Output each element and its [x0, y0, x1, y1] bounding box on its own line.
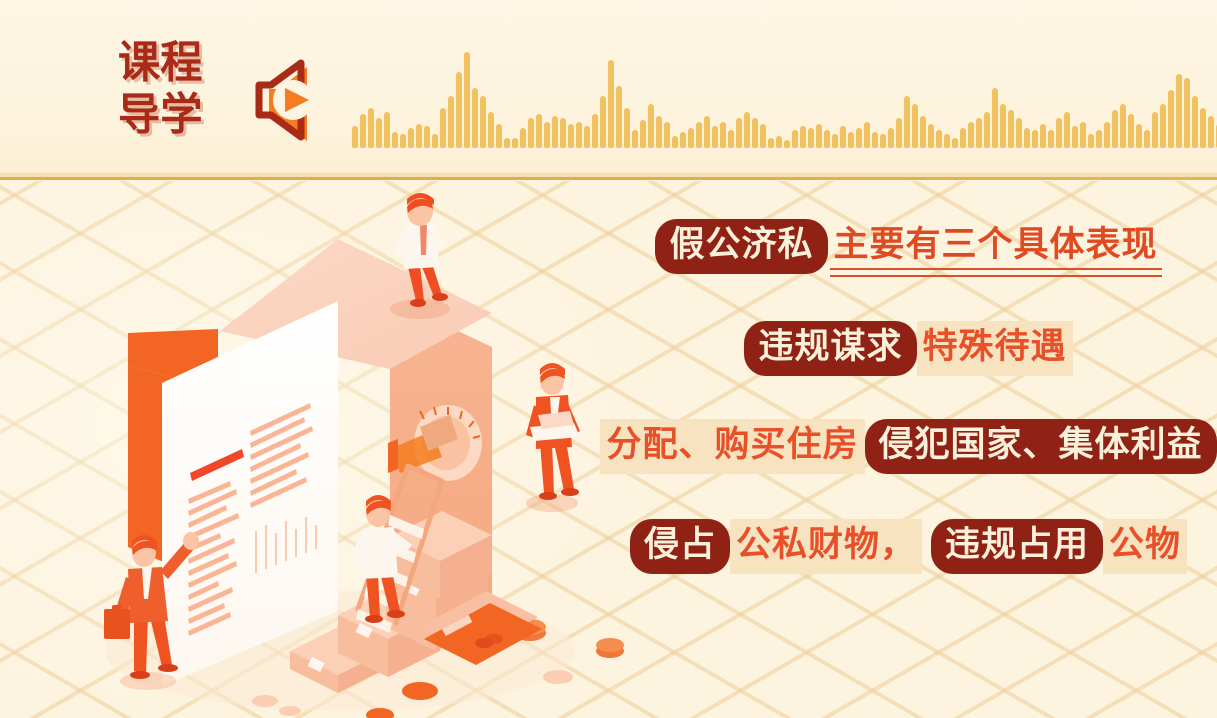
waveform-bar — [1192, 96, 1198, 148]
waveform-bar — [1080, 122, 1086, 148]
speaker-play-icon[interactable] — [245, 55, 335, 147]
content-line-2: 违规谋求 特殊待遇 — [600, 321, 1217, 376]
waveform-bar — [1088, 134, 1094, 148]
waveform-bar — [1168, 90, 1174, 148]
waveform-bar — [1152, 112, 1158, 148]
line-4-pill-2: 违规占用 — [931, 519, 1103, 574]
slide-canvas: 课程 导学 — [0, 0, 1217, 718]
waveform-bar — [1032, 130, 1038, 148]
waveform-bar — [1000, 104, 1006, 148]
header-bar: 课程 导学 — [0, 0, 1217, 180]
waveform-bar — [1176, 74, 1182, 148]
waveform-bar — [752, 118, 758, 148]
waveform-bar — [400, 134, 406, 148]
waveform-bar — [760, 124, 766, 148]
waveform-bar — [536, 114, 542, 148]
waveform-bar — [624, 108, 630, 148]
waveform-bar — [592, 114, 598, 148]
line-4-highlight-2: 公物 — [1103, 519, 1187, 574]
waveform-bar — [832, 134, 838, 148]
waveform-bar — [552, 116, 558, 148]
waveform-bar — [968, 122, 974, 148]
line-4-highlight-1: 公私财物， — [730, 519, 922, 574]
waveform-bar — [928, 124, 934, 148]
waveform-bar — [744, 112, 750, 148]
waveform-bar — [568, 124, 574, 148]
waveform-bar — [416, 124, 422, 148]
waveform-bar — [704, 116, 710, 148]
content-line-1: 假公济私 主要有三个具体表现 — [600, 219, 1217, 274]
waveform-bar — [472, 88, 478, 148]
waveform-bar — [544, 122, 550, 148]
waveform-bar — [608, 60, 614, 148]
waveform-bar — [520, 128, 526, 148]
waveform-bar — [1144, 130, 1150, 148]
line-1-plain: 主要有三个具体表现 — [828, 219, 1162, 274]
man-with-laptop — [526, 363, 580, 512]
waveform-bar — [1024, 128, 1030, 148]
waveform-bar — [808, 128, 814, 148]
waveform-bar — [984, 112, 990, 148]
course-guide-logo: 课程 导学 — [118, 38, 228, 143]
waveform-bar — [952, 138, 958, 148]
waveform-bar — [776, 136, 782, 148]
waveform-bar — [720, 122, 726, 148]
waveform-bar — [392, 132, 398, 148]
waveform-bar — [432, 134, 438, 148]
line-3-highlight: 分配、购买住房 — [600, 419, 864, 474]
waveform-bar — [880, 134, 886, 148]
waveform-bar — [840, 126, 846, 148]
waveform-bar — [584, 126, 590, 148]
waveform-bar — [648, 104, 654, 148]
waveform-bar — [912, 104, 918, 148]
waveform-bar — [944, 134, 950, 148]
content-line-4: 侵占 公私财物， 违规占用 公物 — [600, 519, 1217, 574]
waveform-bar — [1120, 104, 1126, 148]
waveform-bar — [560, 118, 566, 148]
waveform-bar — [1208, 116, 1214, 148]
text-block: 假公济私 主要有三个具体表现 违规谋求 特殊待遇 分配、购买住房 侵犯国家、集体… — [600, 181, 1217, 718]
waveform-bar — [1040, 124, 1046, 148]
waveform-bar — [904, 96, 910, 148]
waveform-bar — [408, 128, 414, 148]
waveform-bar — [816, 124, 822, 148]
waveform-bar — [712, 126, 718, 148]
waveform-bar — [1128, 114, 1134, 148]
waveform-bar — [824, 130, 830, 148]
waveform-bar — [360, 114, 366, 148]
waveform-bar — [1072, 126, 1078, 148]
waveform-bar — [368, 108, 374, 148]
waveform-bar — [456, 72, 462, 148]
waveform-bar — [384, 112, 390, 148]
waveform-bar — [784, 140, 790, 148]
waveform-bar — [696, 122, 702, 148]
waveform-bar — [376, 118, 382, 148]
line-4-pill-1: 侵占 — [630, 519, 730, 574]
waveform-bar — [1160, 104, 1166, 148]
waveform-bar — [1112, 110, 1118, 148]
waveform-bar — [616, 86, 622, 148]
waveform-bar — [448, 96, 454, 148]
waveform-bar — [1096, 130, 1102, 148]
waveform-bar — [352, 126, 358, 148]
waveform-bar — [800, 126, 806, 148]
waveform-bar — [976, 118, 982, 148]
waveform-bar — [792, 130, 798, 148]
waveform-bar — [528, 118, 534, 148]
waveform-bar — [1200, 108, 1206, 148]
waveform-bar — [680, 132, 686, 148]
waveform-bar — [768, 138, 774, 148]
waveform-bar — [664, 122, 670, 148]
content-line-3: 分配、购买住房 侵犯国家、集体利益 — [600, 419, 1217, 474]
divider-gold — [0, 177, 1217, 180]
line-1-pill: 假公济私 — [655, 219, 827, 274]
waveform-bar — [936, 130, 942, 148]
waveform-bar — [1136, 124, 1142, 148]
waveform-bar — [1184, 78, 1190, 148]
waveform-bar — [576, 122, 582, 148]
line-2-pill: 违规谋求 — [744, 321, 916, 376]
waveform-bar — [1104, 122, 1110, 148]
waveform-bar — [440, 108, 446, 148]
waveform-bar — [496, 124, 502, 148]
waveform-bar — [672, 136, 678, 148]
waveform-bar — [848, 132, 854, 148]
waveform-bar — [688, 128, 694, 148]
waveform-bar — [1064, 112, 1070, 148]
waveform-bar — [640, 120, 646, 148]
waveform-bar — [872, 132, 878, 148]
logo-line-1: 课程 — [118, 38, 224, 88]
waveform-bar — [504, 138, 510, 148]
waveform-bar — [1016, 118, 1022, 148]
waveform-bar — [512, 138, 518, 148]
waveform-bar — [920, 116, 926, 148]
audio-waveform — [352, 30, 1142, 148]
waveform-bar — [736, 118, 742, 148]
logo-line-2: 导学 — [118, 90, 224, 140]
waveform-bar — [488, 112, 494, 148]
waveform-bar — [1056, 118, 1062, 148]
waveform-bar — [888, 128, 894, 148]
waveform-bar — [960, 128, 966, 148]
line-2-highlight: 特殊待遇 — [917, 321, 1073, 376]
waveform-bar — [600, 96, 606, 148]
waveform-bar — [728, 130, 734, 148]
waveform-bar — [1048, 130, 1054, 148]
waveform-bar — [864, 122, 870, 148]
waveform-bar — [424, 126, 430, 148]
waveform-bar — [480, 96, 486, 148]
waveform-bar — [656, 116, 662, 148]
waveform-bar — [856, 128, 862, 148]
line-3-pill: 侵犯国家、集体利益 — [865, 419, 1217, 474]
waveform-bar — [632, 130, 638, 148]
isometric-vault-illustration — [90, 181, 650, 718]
waveform-bar — [896, 118, 902, 148]
waveform-bar — [464, 52, 470, 148]
waveform-bar — [1008, 110, 1014, 148]
waveform-bar — [992, 88, 998, 148]
